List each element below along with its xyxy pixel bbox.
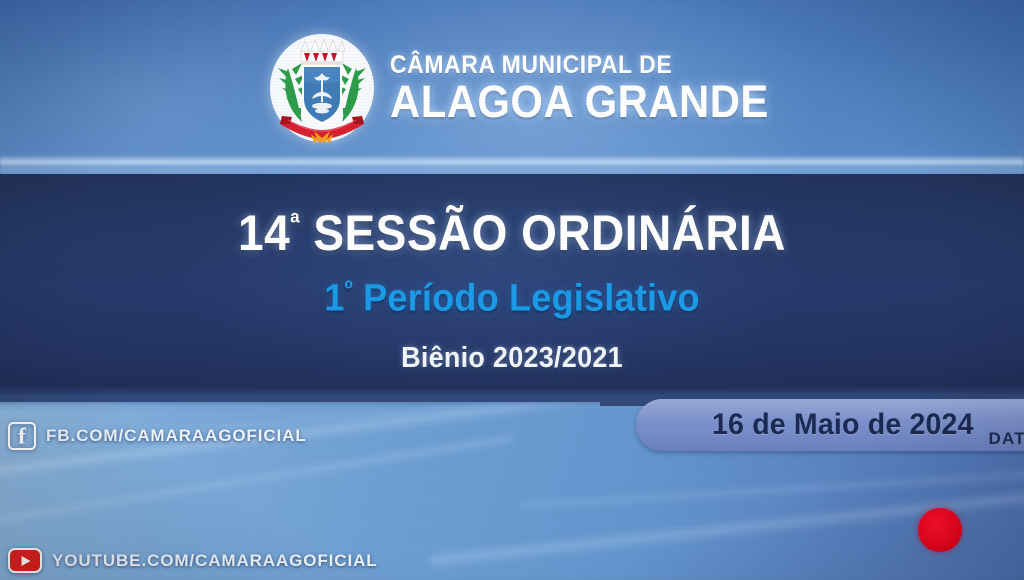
session-ordinal: ª <box>290 207 300 238</box>
youtube-icon[interactable] <box>8 548 42 573</box>
date-panel-label: DATA <box>989 429 1024 449</box>
period-ordinal: º <box>345 276 353 302</box>
period-number: 1 <box>324 278 344 320</box>
recording-indicator-icon <box>918 508 962 552</box>
institution-name-line2: ALAGOA GRANDE <box>390 79 769 124</box>
youtube-handle[interactable]: YOUTUBE.COM/CAMARAAGOFICIAL <box>8 548 378 573</box>
session-title: 14ª SESSÃO ORDINÁRIA <box>41 204 983 262</box>
facebook-icon[interactable] <box>8 422 36 450</box>
legislative-period-title: 1º Período Legislativo <box>26 276 999 321</box>
session-date: 16 de Maio de 2024 <box>712 408 974 442</box>
institution-name: CÂMARA MUNICIPAL DE ALAGOA GRANDE <box>390 52 797 123</box>
session-title-text: SESSÃO ORDINÁRIA <box>300 205 786 261</box>
date-panel: 16 de Maio de 2024 DATA <box>636 399 1024 451</box>
biennium-label: Biênio 2023/2021 <box>36 342 988 375</box>
broadcast-overlay-screen: CÂMARA MUNICIPAL DE ALAGOA GRANDE 14ª SE… <box>0 0 1024 580</box>
youtube-handle-label: YOUTUBE.COM/CAMARAAGOFICIAL <box>52 551 378 571</box>
session-number: 14 <box>238 205 290 261</box>
facebook-handle[interactable]: FB.COM/CAMARAAGOFICIAL <box>8 422 307 450</box>
coat-of-arms-icon <box>268 32 376 144</box>
facebook-handle-label: FB.COM/CAMARAAGOFICIAL <box>46 426 307 446</box>
period-title-text: Período Legislativo <box>353 278 700 320</box>
institution-header: CÂMARA MUNICIPAL DE ALAGOA GRANDE <box>268 32 797 144</box>
